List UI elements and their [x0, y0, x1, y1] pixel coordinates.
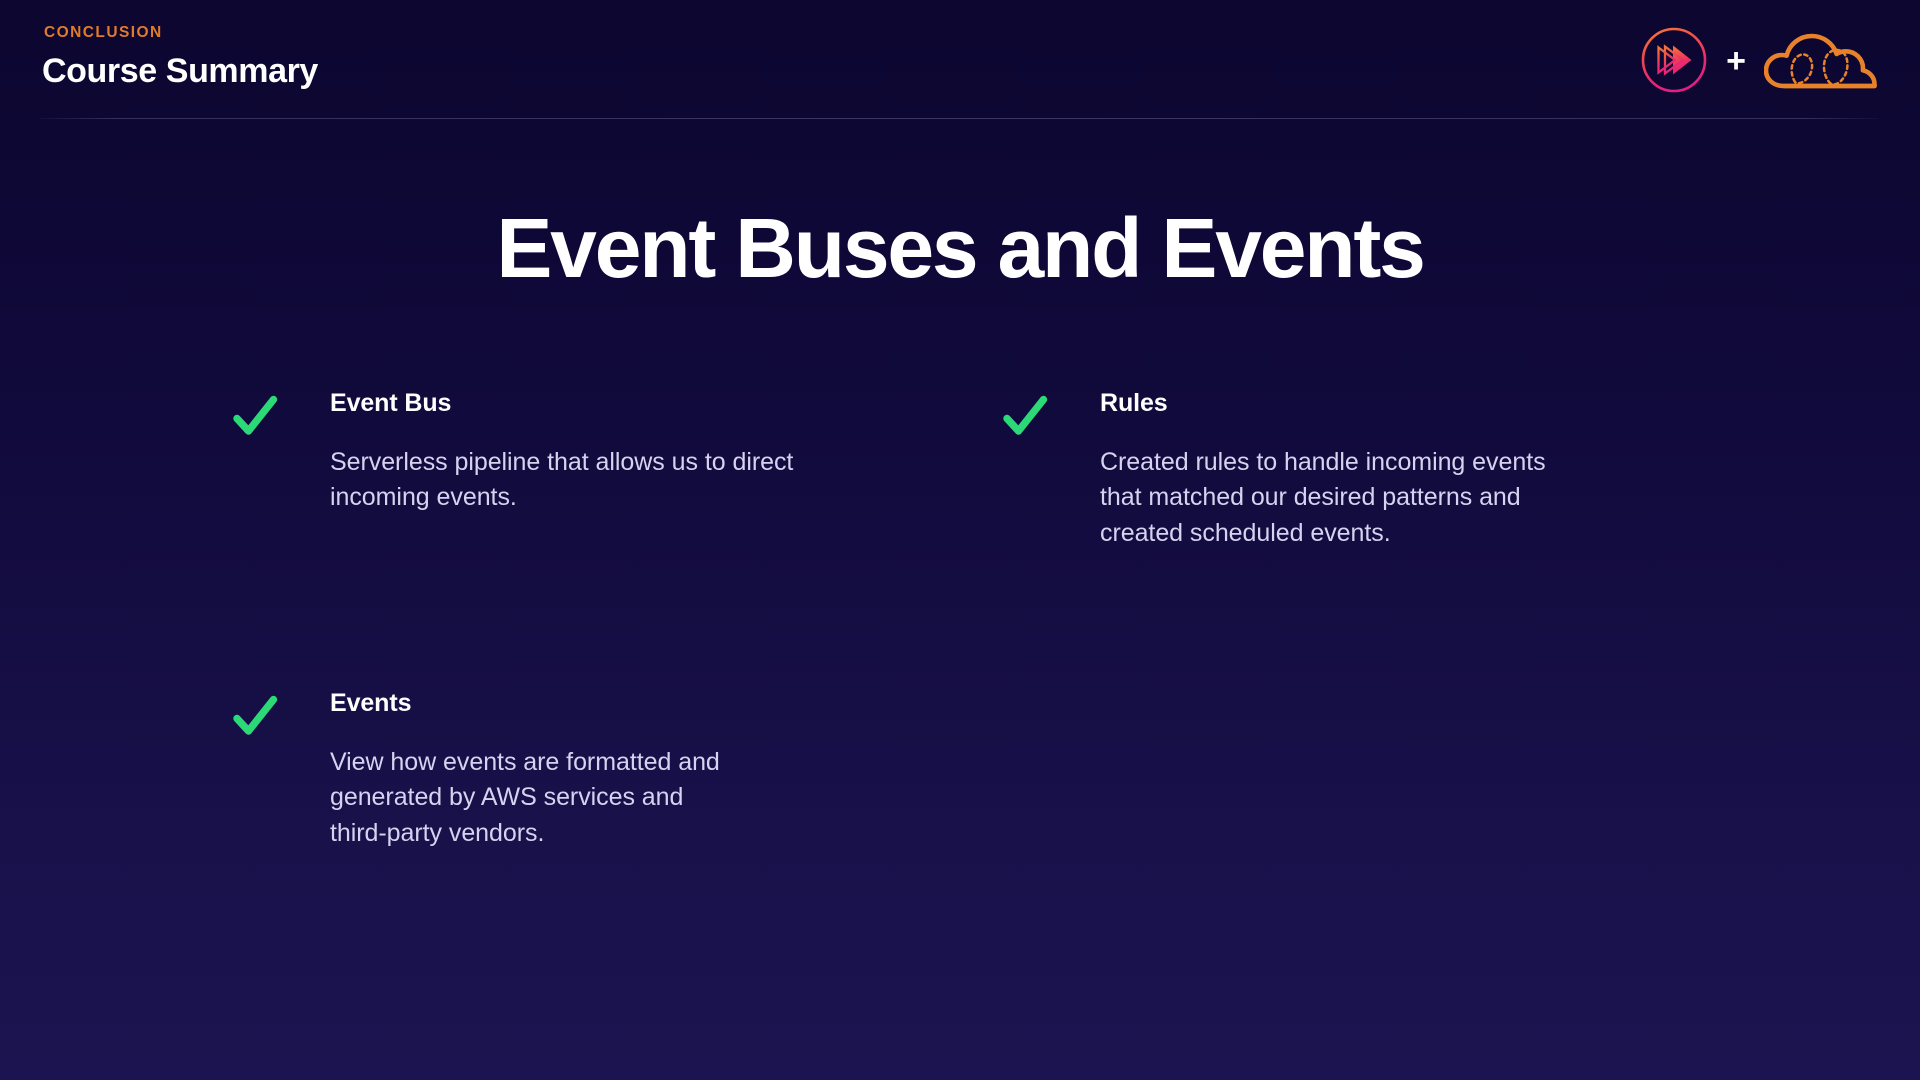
summary-item-empty: [1002, 688, 1692, 988]
summary-item-body: Events View how events are formatted and…: [330, 688, 1002, 988]
green-checkmark-icon: [232, 392, 278, 438]
check-icon-wrap: [232, 388, 330, 688]
slide-header: CONCLUSION Course Summary: [0, 0, 1920, 120]
green-checkmark-icon: [1002, 392, 1048, 438]
slide-canvas: CONCLUSION Course Summary: [0, 0, 1920, 1080]
logo-group: +: [1640, 18, 1882, 102]
check-icon-wrap: [232, 688, 330, 988]
page-title: Event Buses and Events: [0, 206, 1920, 290]
summary-item: Rules Created rules to handle incoming e…: [1002, 388, 1692, 688]
summary-item: Event Bus Serverless pipeline that allow…: [232, 388, 1002, 688]
summary-item-body: Rules Created rules to handle incoming e…: [1100, 388, 1692, 688]
green-checkmark-icon: [232, 692, 278, 738]
plus-separator: +: [1726, 44, 1746, 78]
summary-item-body: Event Bus Serverless pipeline that allow…: [330, 388, 1002, 688]
summary-item: Events View how events are formatted and…: [232, 688, 1002, 988]
summary-item-heading: Rules: [1100, 388, 1692, 418]
summary-item-text: View how events are formatted and genera…: [330, 745, 930, 851]
summary-bullet-grid: Event Bus Serverless pipeline that allow…: [232, 388, 1692, 988]
pluralsight-play-circle-icon: [1640, 26, 1708, 94]
header-divider: [40, 118, 1878, 119]
eyebrow-label: CONCLUSION: [44, 24, 163, 42]
check-icon-wrap: [1002, 388, 1100, 688]
summary-item-heading: Event Bus: [330, 388, 1002, 418]
summary-item-text: Serverless pipeline that allows us to di…: [330, 445, 930, 516]
summary-item-heading: Events: [330, 688, 1002, 718]
header-title: Course Summary: [42, 52, 318, 91]
summary-item-text: Created rules to handle incoming events …: [1100, 445, 1692, 551]
a-cloud-guru-cloud-icon: [1764, 29, 1882, 91]
